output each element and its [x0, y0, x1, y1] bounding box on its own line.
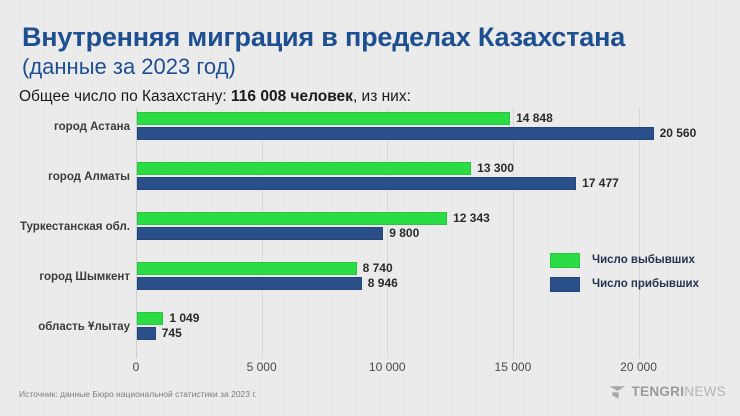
bar-value-label: 9 800: [383, 226, 419, 241]
bar-row: 20 560: [137, 127, 735, 140]
category-label: Туркестанская обл.: [0, 221, 130, 234]
watermark-light: NEWS: [684, 384, 726, 399]
total-value: 116 008 человек: [231, 88, 353, 105]
bar-value-label: 12 343: [447, 211, 490, 226]
x-tick-label: 15 000: [495, 360, 532, 375]
bar-value-label: 8 740: [357, 261, 393, 276]
bar-outgoing[interactable]: [137, 212, 447, 225]
bar-row: 13 300: [137, 162, 735, 175]
bar-row: 745: [137, 327, 735, 340]
x-tick-label: 0: [133, 360, 140, 375]
bar-value-label: 14 848: [510, 111, 553, 126]
watermark-bold: TENGRI: [631, 384, 684, 399]
bar-value-label: 1 049: [163, 311, 199, 326]
category-label: город Алматы: [0, 171, 130, 184]
total-prefix: Общее число по Казахстану:: [19, 88, 231, 105]
total-suffix: , из них:: [353, 88, 411, 105]
bar-value-label: 20 560: [654, 126, 697, 141]
category-label: город Шымкент: [0, 271, 130, 284]
category-label: область Ұлытау: [0, 321, 130, 334]
source-note: Источник: данные Бюро национальной стати…: [19, 388, 257, 400]
legend-swatch-in-icon: [550, 277, 580, 292]
bar-outgoing[interactable]: [137, 312, 163, 325]
bar-row: 12 343: [137, 212, 735, 225]
x-tick-label: 20 000: [620, 360, 657, 375]
tengri-news-watermark: TENGRINEWS: [609, 382, 726, 402]
bar-incoming[interactable]: [137, 177, 576, 190]
bar-incoming[interactable]: [137, 327, 156, 340]
x-tick-label: 10 000: [369, 360, 406, 375]
legend-label-out: Число выбывших: [592, 252, 695, 269]
bar-chart-plot: город Астана14 84820 560город Алматы13 3…: [0, 108, 740, 358]
bar-group: Туркестанская обл.12 3439 800: [0, 210, 740, 252]
bar-incoming[interactable]: [137, 277, 362, 290]
tengri-logo-icon: [609, 385, 626, 400]
bar-outgoing[interactable]: [137, 162, 471, 175]
x-tick-label: 5 000: [247, 360, 277, 375]
bar-row: 9 800: [137, 227, 735, 240]
infographic-canvas: Внутренняя миграция в пределах Казахстан…: [0, 0, 740, 416]
bar-row: 14 848: [137, 112, 735, 125]
bar-value-label: 13 300: [471, 161, 514, 176]
chart-legend: Число выбывших Число прибывших: [550, 250, 730, 298]
bar-group: город Алматы13 30017 477: [0, 160, 740, 202]
bar-incoming[interactable]: [137, 227, 383, 240]
category-label: город Астана: [0, 121, 130, 134]
bar-value-label: 17 477: [576, 176, 619, 191]
bar-outgoing[interactable]: [137, 262, 357, 275]
page-title: Внутренняя миграция в пределах Казахстан…: [22, 22, 722, 52]
bar-group: город Астана14 84820 560: [0, 110, 740, 152]
legend-label-in: Число прибывших: [592, 276, 699, 293]
bar-outgoing[interactable]: [137, 112, 510, 125]
bar-incoming[interactable]: [137, 127, 654, 140]
bar-row: 1 049: [137, 312, 735, 325]
page-subtitle: (данные за 2023 год): [22, 54, 722, 80]
bar-row: 17 477: [137, 177, 735, 190]
bar-group: область Ұлытау1 049745: [0, 310, 740, 352]
total-summary: Общее число по Казахстану: 116 008 челов…: [19, 87, 719, 107]
legend-item-in: Число прибывших: [550, 274, 730, 298]
bar-value-label: 8 946: [362, 276, 398, 291]
x-axis-ticks: 05 00010 00015 00020 000: [0, 360, 740, 378]
legend-swatch-out-icon: [550, 253, 580, 268]
bar-value-label: 745: [156, 326, 182, 341]
legend-item-out: Число выбывших: [550, 250, 730, 274]
watermark-text: TENGRINEWS: [631, 384, 726, 400]
